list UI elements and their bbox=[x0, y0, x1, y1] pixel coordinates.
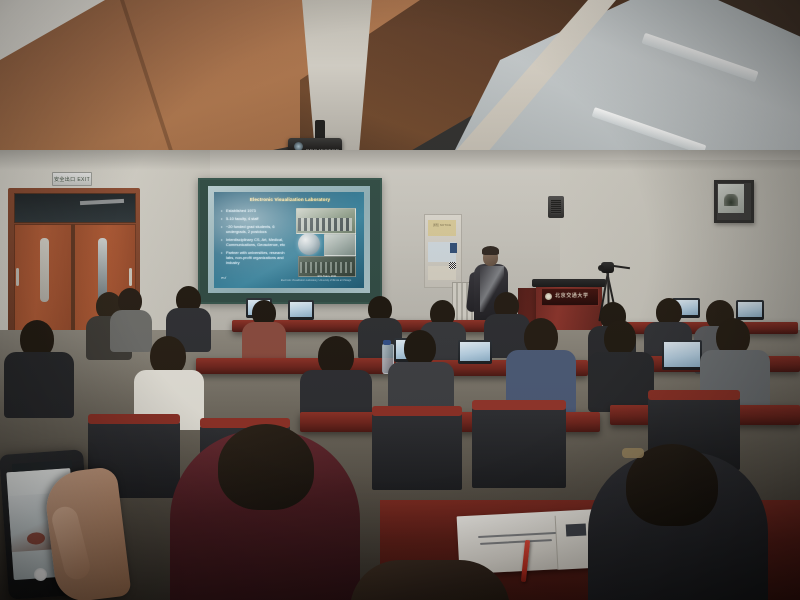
slide-bullet: ~20 funded grad students, 6 undergrads, … bbox=[222, 224, 290, 234]
chair-back[interactable] bbox=[372, 412, 462, 490]
slide-photo-lab-figures bbox=[300, 262, 352, 273]
slide-photo-caption: EVL Team, 2011 bbox=[310, 275, 344, 278]
chair-top-rail bbox=[88, 414, 180, 424]
laptop-screen bbox=[664, 342, 700, 367]
door-viewport-left bbox=[40, 238, 49, 302]
picture-artwork bbox=[724, 194, 738, 206]
slide-logo: evl bbox=[221, 275, 226, 280]
hair-clip bbox=[622, 448, 644, 458]
slide-bullet-list: Established 1973 5-10 faculty, 4 staff ~… bbox=[222, 208, 290, 268]
slide-footer: Electronic Visualization Laboratory, Uni… bbox=[272, 279, 360, 282]
slide-sphere-graphic bbox=[298, 233, 320, 255]
wall-top-shadow bbox=[0, 150, 800, 170]
podium-top-surface bbox=[532, 279, 606, 287]
chair-top-rail bbox=[472, 400, 566, 410]
slide-title: Electronic Visualization Laboratory bbox=[230, 197, 350, 203]
exit-sign: 安全出口 EXIT bbox=[52, 172, 92, 186]
slide-bullet: Established 1973 bbox=[222, 208, 290, 213]
foreground-attendee-left-head bbox=[218, 424, 314, 510]
attendee-body bbox=[110, 310, 152, 352]
presenter-hair bbox=[482, 246, 499, 255]
slide-photo-figures bbox=[298, 218, 352, 231]
slide-bullet: Partner with universities, research labs… bbox=[222, 250, 290, 266]
door-handle-right[interactable] bbox=[129, 268, 132, 286]
chair-back[interactable] bbox=[472, 406, 566, 488]
speaker-grill bbox=[551, 200, 561, 214]
slide-photo-display bbox=[324, 234, 356, 256]
attendee-body bbox=[242, 322, 286, 362]
lecture-hall-photo: PROJECTOR 安全出口 EXIT Electronic Visualiza… bbox=[0, 0, 800, 600]
attendee-body bbox=[588, 352, 654, 412]
slide-bullet: 5-10 faculty, 4 staff bbox=[222, 216, 290, 221]
chair-top-rail bbox=[372, 406, 462, 416]
university-logo-icon bbox=[545, 293, 552, 300]
attendee-body bbox=[4, 352, 74, 418]
camera-lens-icon bbox=[598, 265, 604, 271]
door-handle-left[interactable] bbox=[16, 268, 19, 286]
attendee-head bbox=[404, 330, 436, 366]
paper-figure-block bbox=[566, 523, 587, 536]
door-transom-window bbox=[14, 193, 136, 223]
slide-bullet: Interdisciplinary CS, Art, Medical, Comm… bbox=[222, 237, 290, 247]
qr-code-icon bbox=[449, 262, 456, 269]
attendee-head bbox=[604, 320, 636, 356]
monitor-screen bbox=[738, 302, 762, 317]
laptop-screen bbox=[460, 342, 490, 361]
poster-heading-block: 通知 NOTICE bbox=[428, 220, 456, 236]
bottle-cap bbox=[383, 340, 391, 345]
poster-heading-label: 通知 NOTICE bbox=[428, 223, 456, 227]
presentation-slide: Electronic Visualization Laboratory Esta… bbox=[214, 192, 364, 288]
monitor-screen bbox=[290, 302, 312, 317]
poster-badge bbox=[450, 243, 457, 253]
exit-sign-label: 安全出口 EXIT bbox=[54, 176, 90, 183]
chair-top-rail bbox=[648, 390, 740, 400]
podium-university-label: 北京交通大学 bbox=[555, 292, 589, 300]
